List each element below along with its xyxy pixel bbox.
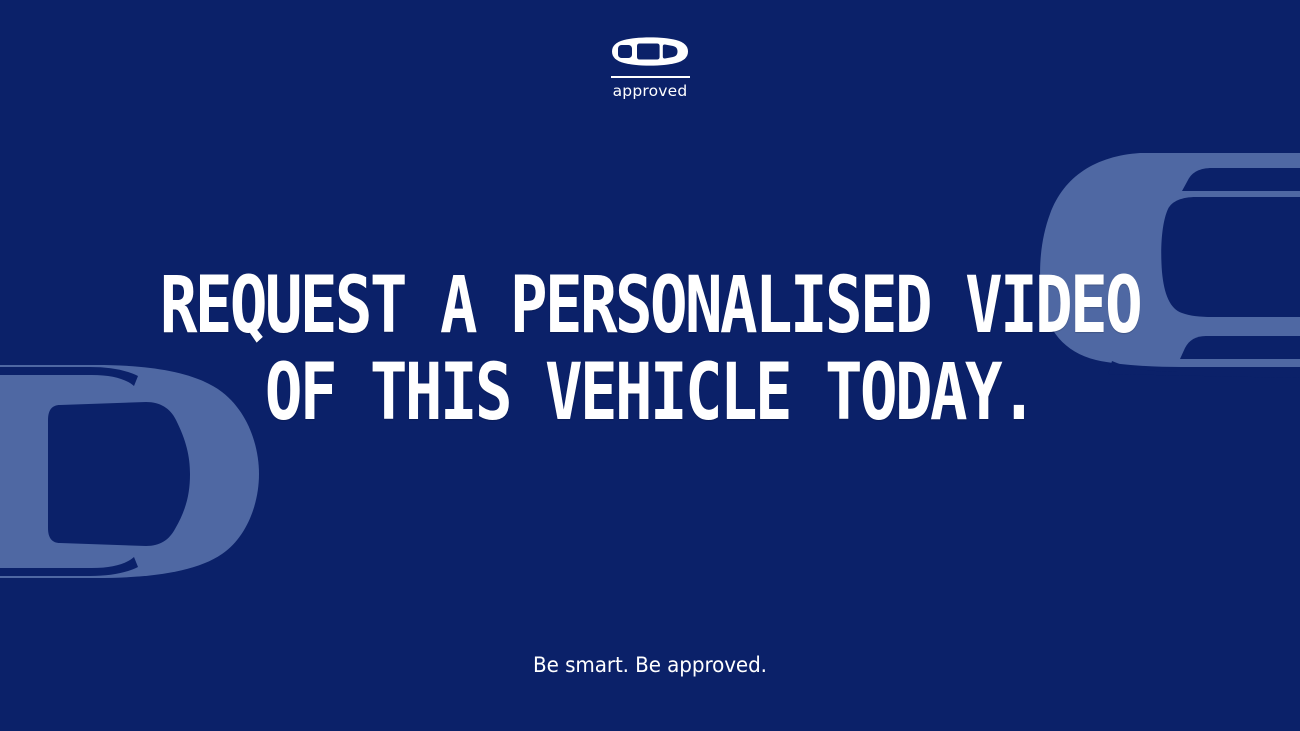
headline-line-1: REQUEST A PERSONALISED VIDEO (130, 268, 1170, 345)
car-top-view-icon (611, 36, 689, 67)
brand-lockup: approved (0, 36, 1300, 100)
brand-wordmark: approved (613, 84, 688, 100)
headline-line-2: OF THIS VEHICLE TODAY. (130, 355, 1170, 432)
brand-divider (611, 76, 690, 78)
promo-banner: approved REQUEST A PERSONALISED VIDEO OF… (0, 0, 1300, 731)
page-title: REQUEST A PERSONALISED VIDEO OF THIS VEH… (0, 268, 1300, 432)
tagline: Be smart. Be approved. (33, 653, 1268, 677)
